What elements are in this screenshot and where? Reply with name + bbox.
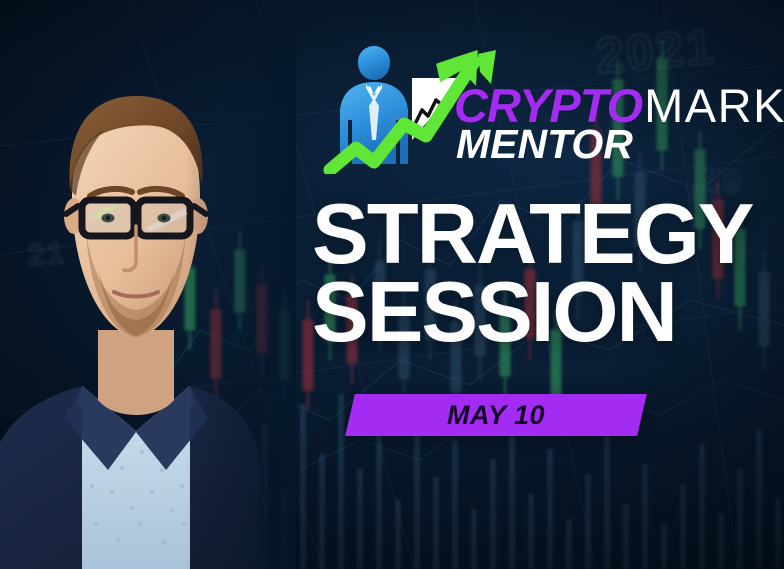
date-label: MAY 10 — [447, 400, 545, 431]
brand-word-mentor: MENTOR — [456, 124, 633, 165]
promo-poster: 2021 21 62 53 — [0, 0, 784, 569]
brand-wordmark: CRYPTOMARKET MENTOR — [454, 50, 784, 174]
headline-line-one: STRATEGY — [312, 196, 782, 274]
headline-line-two: SESSION — [312, 274, 782, 352]
date-banner: MAY 10 — [345, 394, 647, 436]
brand-word-market: MARKET — [644, 79, 784, 132]
brand-logo: CRYPTOMARKET MENTOR — [308, 44, 778, 176]
date-banner-inner: MAY 10 — [350, 394, 642, 436]
page-title: STRATEGY SESSION — [312, 196, 782, 352]
host-portrait — [0, 0, 261, 569]
